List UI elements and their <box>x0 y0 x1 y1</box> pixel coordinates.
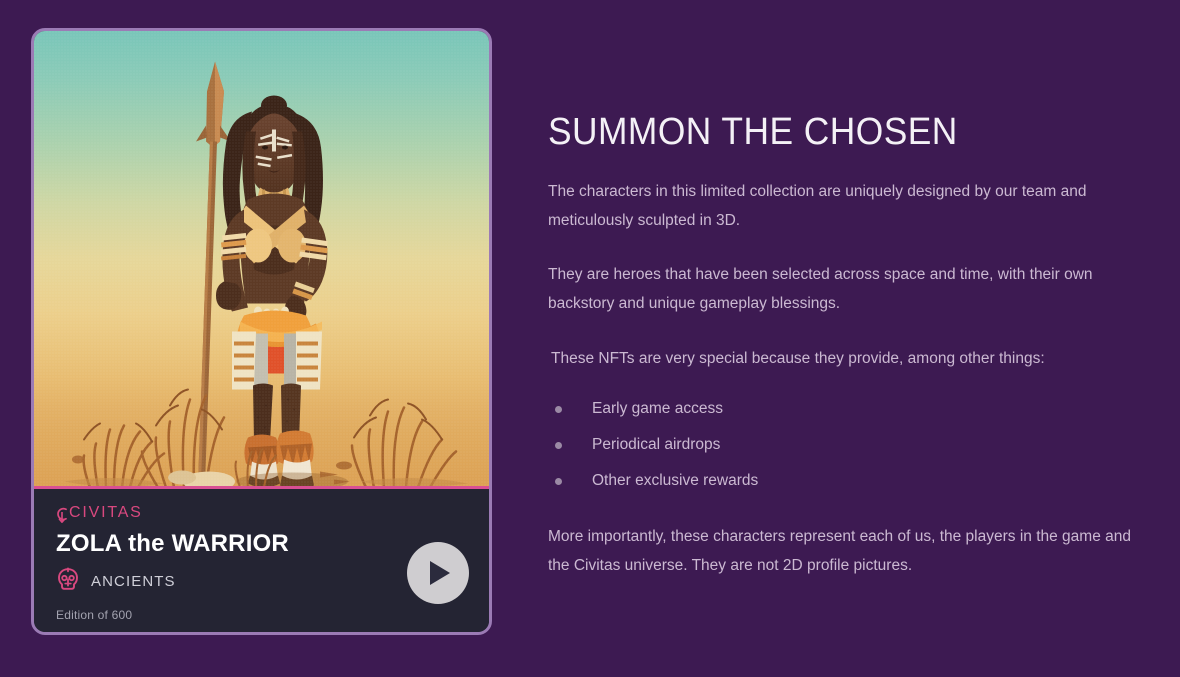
nft-card-frame: CIVITAS ZOLA the WARRIOR <box>31 28 492 635</box>
list-item-label: Early game access <box>592 400 723 418</box>
bullet-dot-icon <box>555 478 562 485</box>
bullet-dot-icon <box>555 442 562 449</box>
benefits-list: Early game access Periodical airdrops Ot… <box>548 391 1156 499</box>
page-title: SUMMON THE CHOSEN <box>548 113 1113 153</box>
right-armband <box>299 238 327 261</box>
card-info: CIVITAS ZOLA the WARRIOR <box>34 489 489 632</box>
paragraph-4: More importantly, these characters repre… <box>548 523 1148 580</box>
play-button[interactable] <box>407 542 469 604</box>
faction-label: ANCIENTS <box>91 573 176 590</box>
card-title: ZOLA the WARRIOR <box>56 530 467 558</box>
edition-label: Edition of 600 <box>56 608 467 622</box>
paragraph-2: They are heroes that have been selected … <box>548 261 1148 318</box>
nft-card[interactable]: CIVITAS ZOLA the WARRIOR <box>31 28 492 635</box>
play-icon <box>425 560 451 586</box>
civitas-logo-text: CIVITAS <box>69 504 143 522</box>
faction-row: ANCIENTS <box>56 568 467 594</box>
list-item: Periodical airdrops <box>548 427 1156 463</box>
content-column: SUMMON THE CHOSEN The characters in this… <box>548 113 1156 581</box>
civitas-g-glyph-icon <box>56 505 68 522</box>
civitas-logo: CIVITAS <box>56 503 467 523</box>
warrior-illustration-icon <box>34 31 489 486</box>
list-item-label: Other exclusive rewards <box>592 472 758 490</box>
paragraph-1: The characters in this limited collectio… <box>548 178 1148 235</box>
card-artwork <box>34 31 489 489</box>
list-item: Other exclusive rewards <box>548 463 1156 499</box>
page-root: CIVITAS ZOLA the WARRIOR <box>0 0 1180 677</box>
ancients-skull-icon <box>56 567 80 596</box>
list-item-label: Periodical airdrops <box>592 436 720 454</box>
bullet-dot-icon <box>555 406 562 413</box>
list-item: Early game access <box>548 391 1156 427</box>
paragraph-3: These NFTs are very special because they… <box>548 345 1156 374</box>
